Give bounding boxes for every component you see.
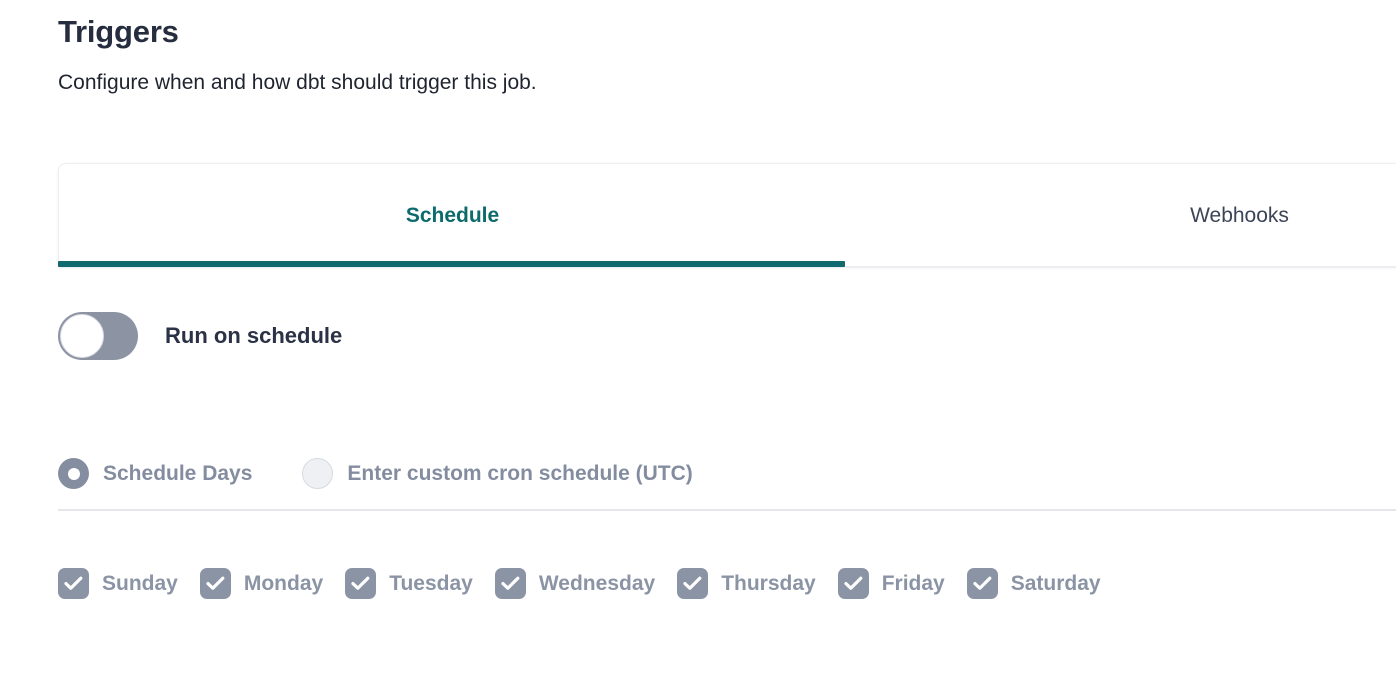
day-label-monday: Monday (244, 572, 323, 596)
run-on-schedule-toggle[interactable] (58, 312, 138, 360)
page-subtitle: Configure when and how dbt should trigge… (58, 54, 1258, 98)
schedule-days-row: Sunday Monday Tuesday Wednesday Thursday (58, 568, 1101, 599)
tab-strip: Schedule Webhooks (59, 164, 1396, 267)
schedule-mode-radio-group: Schedule Days Enter custom cron schedule… (58, 458, 693, 489)
tab-active-indicator (58, 261, 845, 267)
checkbox-checked-icon[interactable] (200, 568, 231, 599)
tab-webhooks-label: Webhooks (1190, 204, 1289, 228)
page-header: Triggers Configure when and how dbt shou… (58, 10, 1258, 98)
day-option-saturday[interactable]: Saturday (967, 568, 1101, 599)
checkbox-checked-icon[interactable] (345, 568, 376, 599)
triggers-page: Triggers Configure when and how dbt shou… (0, 0, 1396, 680)
day-option-wednesday[interactable]: Wednesday (495, 568, 655, 599)
schedule-mode-divider (58, 509, 1396, 511)
checkbox-checked-icon[interactable] (967, 568, 998, 599)
run-on-schedule-label: Run on schedule (165, 312, 342, 360)
radio-selected-icon[interactable] (58, 458, 89, 489)
radio-label-schedule-days: Schedule Days (103, 462, 252, 486)
day-label-wednesday: Wednesday (539, 572, 655, 596)
run-on-schedule-row: Run on schedule (58, 312, 342, 360)
day-option-sunday[interactable]: Sunday (58, 568, 178, 599)
checkbox-checked-icon[interactable] (495, 568, 526, 599)
triggers-tab-card: Schedule Webhooks (58, 163, 1396, 267)
day-option-monday[interactable]: Monday (200, 568, 323, 599)
day-option-friday[interactable]: Friday (838, 568, 945, 599)
checkbox-checked-icon[interactable] (838, 568, 869, 599)
radio-label-custom-cron: Enter custom cron schedule (UTC) (347, 462, 692, 486)
radio-option-schedule-days[interactable]: Schedule Days (58, 458, 252, 489)
day-option-tuesday[interactable]: Tuesday (345, 568, 473, 599)
tab-schedule-label: Schedule (406, 204, 499, 228)
checkbox-checked-icon[interactable] (58, 568, 89, 599)
toggle-knob (60, 314, 104, 358)
day-label-sunday: Sunday (102, 572, 178, 596)
radio-option-custom-cron[interactable]: Enter custom cron schedule (UTC) (302, 458, 692, 489)
day-label-tuesday: Tuesday (389, 572, 473, 596)
page-title: Triggers (58, 10, 1258, 54)
day-label-saturday: Saturday (1011, 572, 1101, 596)
tab-schedule[interactable]: Schedule (59, 164, 846, 267)
day-label-thursday: Thursday (721, 572, 816, 596)
checkbox-checked-icon[interactable] (677, 568, 708, 599)
tab-webhooks[interactable]: Webhooks (846, 164, 1396, 267)
day-option-thursday[interactable]: Thursday (677, 568, 816, 599)
radio-unselected-icon[interactable] (302, 458, 333, 489)
day-label-friday: Friday (882, 572, 945, 596)
